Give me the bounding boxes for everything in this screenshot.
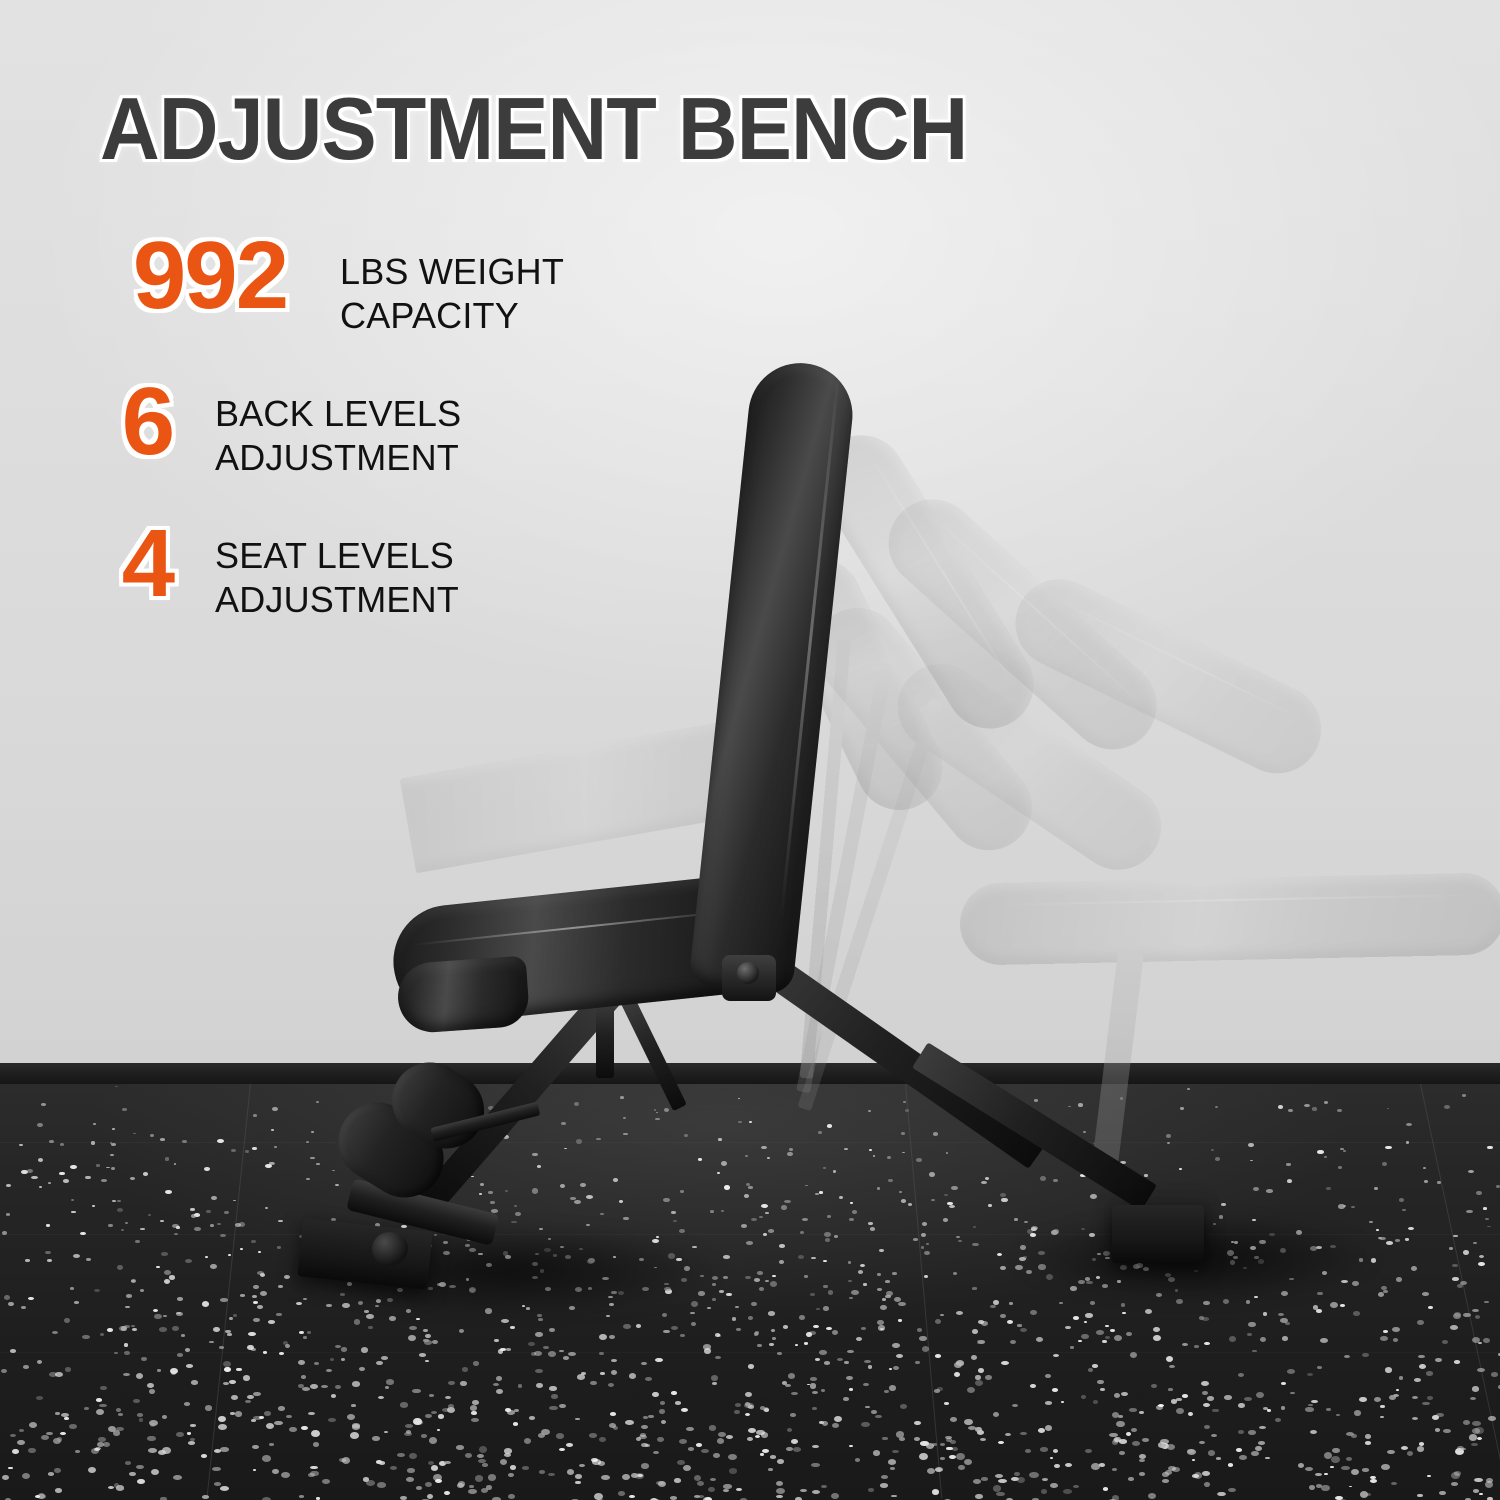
adjustment-pin — [372, 1232, 408, 1266]
spec-label-seat-levels: SEAT LEVELS ADJUSTMENT — [215, 520, 459, 622]
spec-label-weight-capacity: LBS WEIGHT CAPACITY — [340, 232, 564, 338]
seat-support-diagonal — [621, 997, 687, 1111]
pivot-bolt — [737, 962, 759, 984]
spec-item-weight-capacity: 992 LBS WEIGHT CAPACITY — [80, 232, 564, 338]
product-marketing-image: ADJUSTMENT BENCH 992 LBS WEIGHT CAPACITY… — [0, 0, 1500, 1500]
seat-front-lip — [396, 956, 531, 1035]
spec-list: 992 LBS WEIGHT CAPACITY 6 BACK LEVELS AD… — [80, 232, 564, 661]
seat-support-strut — [596, 1000, 614, 1078]
spec-item-back-levels: 6 BACK LEVELS ADJUSTMENT — [80, 378, 564, 480]
spec-number-6: 6 — [80, 378, 215, 466]
rear-foot — [1112, 1205, 1204, 1263]
spec-label-back-levels: BACK LEVELS ADJUSTMENT — [215, 378, 461, 480]
spec-item-seat-levels: 4 SEAT LEVELS ADJUSTMENT — [80, 520, 564, 622]
spec-number-4: 4 — [80, 520, 215, 608]
page-title: ADJUSTMENT BENCH — [100, 78, 967, 180]
spec-number-992: 992 — [80, 232, 340, 320]
